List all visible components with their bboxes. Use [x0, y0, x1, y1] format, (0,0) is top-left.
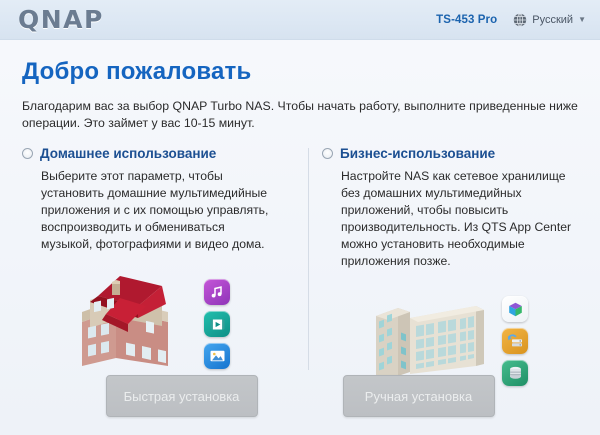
globe-icon	[513, 13, 527, 27]
home-app-icons	[204, 279, 230, 369]
setup-wizard-page: QNAP TS-453 Pro Русс	[0, 0, 600, 435]
video-app-icon[interactable]	[204, 311, 230, 337]
radio-business-use[interactable]	[322, 148, 333, 159]
language-label: Русский	[532, 14, 573, 26]
server-backup-icon[interactable]	[502, 328, 528, 354]
language-selector[interactable]: Русский ▼	[513, 13, 586, 27]
chevron-down-icon: ▼	[578, 16, 586, 24]
option-business-title[interactable]: Бизнес-использование	[340, 146, 495, 161]
options-container: Домашнее использование Выберите этот пар…	[22, 146, 578, 392]
photo-app-icon[interactable]	[204, 343, 230, 369]
qnap-logo: QNAP	[18, 7, 104, 32]
option-business-description: Настройте NAS как сетевое хранилище без …	[341, 168, 578, 270]
option-business-header[interactable]: Бизнес-использование	[322, 146, 578, 161]
app-center-icon[interactable]	[502, 296, 528, 322]
intro-text: Благодарим вас за выбор QNAP Turbo NAS. …	[22, 98, 578, 132]
option-home-use[interactable]: Домашнее использование Выберите этот пар…	[22, 146, 278, 392]
music-app-icon[interactable]	[204, 279, 230, 305]
house-illustration	[76, 270, 194, 375]
footer-buttons: Быстрая установка Ручная установка	[0, 375, 600, 417]
main-content: Добро пожаловать Благодарим вас за выбор…	[0, 58, 600, 392]
header-right-group: TS-453 Pro Русский ▼	[436, 13, 586, 27]
option-home-description: Выберите этот параметр, чтобы установить…	[41, 168, 278, 253]
business-app-icons	[502, 296, 528, 386]
column-divider	[308, 148, 309, 370]
option-home-header[interactable]: Домашнее использование	[22, 146, 278, 161]
manual-setup-button[interactable]: Ручная установка	[343, 375, 495, 417]
radio-home-use[interactable]	[22, 148, 33, 159]
app-header: QNAP TS-453 Pro Русс	[0, 0, 600, 40]
model-name-label: TS-453 Pro	[436, 14, 497, 26]
page-title: Добро пожаловать	[22, 58, 578, 86]
quick-setup-button[interactable]: Быстрая установка	[106, 375, 258, 417]
option-business-use[interactable]: Бизнес-использование Настройте NAS как с…	[322, 146, 578, 392]
option-home-title[interactable]: Домашнее использование	[40, 146, 216, 161]
home-illustration-row	[22, 263, 278, 375]
